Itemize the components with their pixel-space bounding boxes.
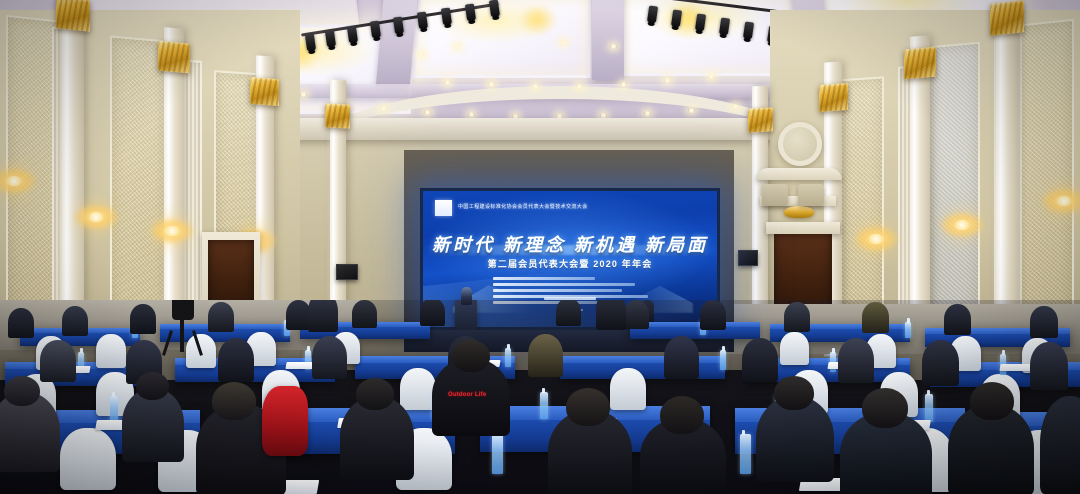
gold-corinthian-capital (904, 47, 936, 80)
attendee (62, 306, 88, 336)
gold-corinthian-capital (56, 0, 90, 32)
attendee (40, 340, 76, 382)
wall-sconce-glow (954, 220, 970, 230)
recessed-downlight (664, 78, 671, 83)
attendee (922, 340, 959, 386)
attendee (420, 300, 445, 326)
screen-agenda-line (493, 277, 595, 280)
water-bottle (740, 434, 751, 474)
attendee (1030, 342, 1068, 390)
banquet-chair (60, 428, 116, 490)
attendee-head (660, 396, 704, 434)
audience-area: Outdoor Life (0, 300, 1080, 494)
banquet-chair (400, 368, 436, 410)
wall-damask-panel (928, 42, 980, 327)
recessed-downlight (708, 74, 715, 79)
recessed-downlight (488, 82, 495, 87)
recessed-downlight (468, 112, 475, 117)
wall-sconce-glow (164, 226, 180, 236)
gold-corinthian-capital (819, 83, 848, 112)
recessed-downlight (532, 84, 539, 89)
recessed-downlight (424, 110, 431, 115)
attendee-head (566, 388, 610, 426)
recessed-downlight (418, 52, 425, 57)
attendee (556, 300, 581, 326)
gold-corinthian-capital (250, 77, 279, 106)
wall-sconce-glow (88, 212, 104, 222)
gold-corinthian-capital (325, 103, 350, 128)
wall-medallion (778, 122, 822, 166)
recessed-downlight (300, 92, 307, 97)
attendee-head (970, 382, 1014, 420)
water-bottle (925, 394, 933, 422)
water-bottle (540, 392, 548, 419)
wall-recessed-panel (762, 184, 788, 206)
screen-headline: 新时代 新理念 新机遇 新局面 (423, 231, 717, 257)
wall-sconce-glow (868, 234, 884, 244)
standing-attendee (596, 300, 626, 330)
attendee (312, 336, 347, 379)
gold-corinthian-capital (158, 41, 190, 74)
wall-gold-panel (836, 76, 884, 331)
recessed-downlight (620, 82, 627, 87)
attendee (784, 302, 810, 332)
screen-agenda-line (493, 283, 635, 286)
attendee-head (212, 382, 256, 420)
water-bottle (505, 348, 511, 367)
recessed-downlight (576, 84, 583, 89)
banquet-table (630, 322, 760, 339)
jacket-brand-text: Outdoor Life (448, 392, 486, 398)
attendee (700, 300, 726, 330)
standing-attendee (308, 300, 338, 332)
banquet-chair (96, 334, 126, 368)
recessed-downlight (688, 108, 695, 113)
gold-corinthian-capital (748, 107, 773, 132)
association-logo-icon (435, 200, 452, 216)
water-bottle (905, 322, 911, 338)
attendee-head (136, 372, 169, 400)
attendee (1030, 306, 1058, 338)
recessed-downlight (610, 44, 617, 49)
wall-gold-panel (110, 35, 168, 324)
recessed-downlight (560, 40, 567, 45)
water-bottle (492, 434, 503, 474)
attendee-head (356, 378, 394, 410)
recessed-downlight (732, 104, 739, 109)
recessed-downlight (644, 111, 651, 116)
banquet-chair (610, 368, 646, 410)
wall-pilaster (62, 5, 84, 337)
gold-swag-ornament (784, 206, 814, 218)
attendee (838, 338, 874, 383)
screen-subtitle: 第二届会员代表大会暨 2020 年年会 (423, 257, 717, 270)
attendee (944, 304, 971, 335)
water-bottle (720, 350, 726, 370)
camera-tripod-leg (180, 318, 184, 352)
attendee (862, 302, 889, 333)
attendee (742, 338, 778, 382)
attendee-head (862, 388, 908, 428)
screen-top-bar-text: 中国工程建设标准化协会会员代表大会暨技术交流大会 (458, 203, 588, 210)
banquet-chair (780, 332, 809, 365)
gold-corinthian-capital (990, 0, 1024, 36)
attendee (218, 338, 254, 382)
recessed-downlight (444, 80, 451, 85)
right-door-lintel (766, 222, 840, 234)
attendee (352, 300, 377, 328)
recessed-downlight (380, 106, 387, 111)
recessed-downlight (454, 44, 461, 49)
attendee (1040, 396, 1080, 494)
attendee (664, 336, 699, 379)
conference-hall-photo: 中国工程建设标准化协会会员代表大会暨技术交流大会 新时代 新理念 新机遇 新局面… (0, 0, 1080, 494)
attendee (624, 300, 649, 329)
attendee-red-coat (262, 386, 308, 456)
wall-sconce-glow (6, 176, 22, 186)
attendee-head (4, 376, 40, 406)
attendee-head (452, 340, 490, 372)
wall-recessed-panel (798, 184, 824, 206)
door-pediment-arch (756, 168, 842, 180)
ceiling-beam (592, 0, 624, 80)
wall-sconce-glow (1056, 196, 1072, 206)
attendee (528, 334, 563, 377)
wall-speaker-right (738, 250, 758, 266)
wall-pilaster (164, 27, 184, 347)
video-camera-body (172, 300, 194, 320)
wall-speaker-left (336, 264, 358, 280)
wall-pilaster (996, 9, 1018, 339)
attendee-head (774, 376, 814, 410)
attendee (8, 308, 34, 338)
attendee (208, 302, 234, 332)
attendee (130, 304, 156, 334)
